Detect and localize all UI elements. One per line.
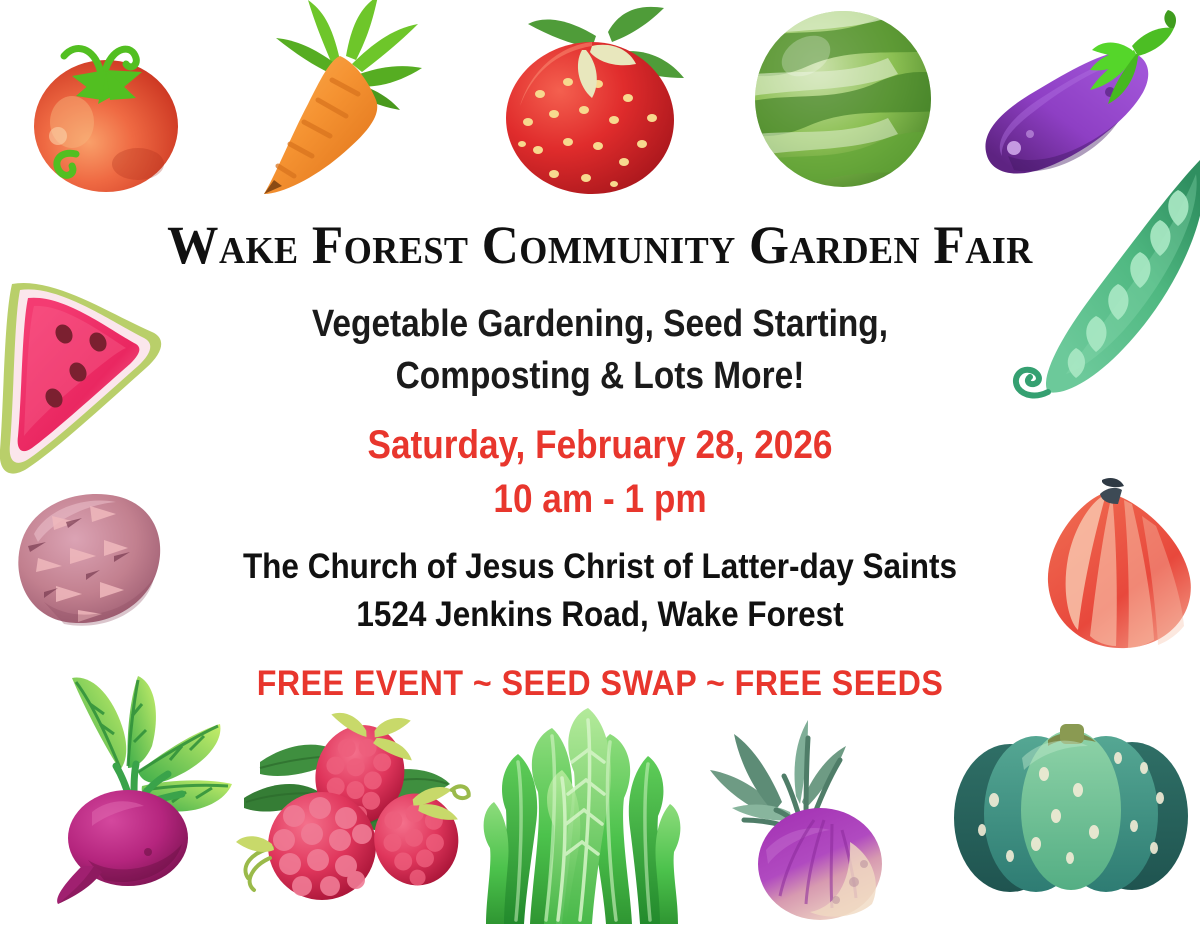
- event-datetime: Saturday, February 28, 2026 10 am - 1 pm: [72, 418, 1128, 526]
- carrot-illustration: [236, 0, 426, 199]
- pumpkin-illustration: [948, 698, 1192, 920]
- free-event-banner: FREE EVENT ~ SEED SWAP ~ FREE SEEDS: [48, 662, 1152, 706]
- turnip-illustration: [704, 716, 916, 921]
- event-time: 10 am - 1 pm: [72, 472, 1128, 526]
- flyer-subtitle: Vegetable Gardening, Seed Starting, Comp…: [72, 298, 1128, 402]
- flyer-title: Wake Forest Community Garden Fair: [30, 216, 1170, 274]
- event-date: Saturday, February 28, 2026: [72, 418, 1128, 472]
- subtitle-line-2: Composting & Lots More!: [72, 350, 1128, 402]
- event-venue: The Church of Jesus Christ of Latter-day…: [60, 543, 1140, 639]
- watermelon-illustration: [748, 4, 938, 194]
- tomato-illustration: [14, 14, 194, 204]
- leafy-greens-illustration: [476, 706, 688, 927]
- venue-address: 1524 Jenkins Road, Wake Forest: [60, 591, 1140, 639]
- subtitle-line-1: Vegetable Gardening, Seed Starting,: [72, 298, 1128, 350]
- venue-name: The Church of Jesus Christ of Latter-day…: [60, 543, 1140, 591]
- eggplant-illustration: [978, 6, 1188, 191]
- garden-fair-flyer: Wake Forest Community Garden Fair Vegeta…: [0, 0, 1200, 927]
- raspberry-illustration: [238, 706, 456, 906]
- strawberry-illustration: [488, 2, 698, 200]
